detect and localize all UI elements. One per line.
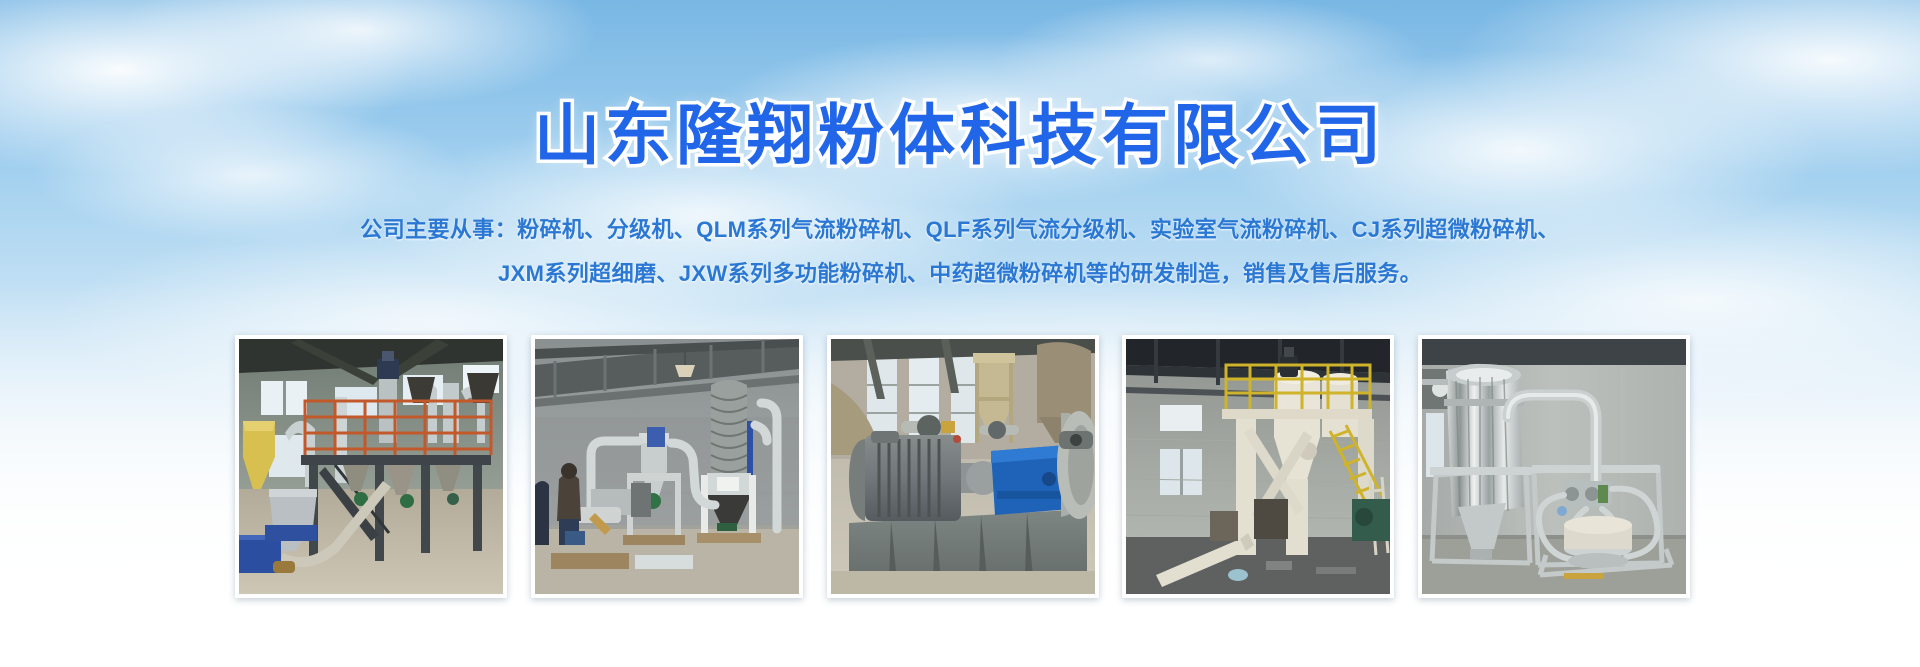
gallery-thumb-3[interactable] [827, 335, 1099, 598]
gallery-thumb-5[interactable] [1418, 335, 1690, 598]
gallery-thumb-2[interactable] [531, 335, 803, 598]
company-title: 山东隆翔粉体科技有限公司 [0, 102, 1920, 168]
product-photo-3 [831, 339, 1095, 594]
landing-page: 山东隆翔粉体科技有限公司 公司主要从事：粉碎机、分级机、QLM系列气流粉碎机、Q… [0, 0, 1920, 667]
description-line-2: JXM系列超细磨、JXW系列多功能粉碎机、中药超微粉碎机等的研发制造，销售及售后… [0, 252, 1920, 296]
product-photo-5 [1422, 339, 1686, 594]
product-photo-2 [535, 339, 799, 594]
company-description: 公司主要从事：粉碎机、分级机、QLM系列气流粉碎机、QLF系列气流分级机、实验室… [0, 208, 1920, 296]
product-photo-1 [239, 339, 503, 594]
gallery-thumb-1[interactable] [235, 335, 507, 598]
product-photo-4 [1126, 339, 1390, 594]
product-photo-gallery [235, 335, 1690, 602]
description-line-1: 公司主要从事：粉碎机、分级机、QLM系列气流粉碎机、QLF系列气流分级机、实验室… [0, 208, 1920, 252]
gallery-thumb-4[interactable] [1122, 335, 1394, 598]
